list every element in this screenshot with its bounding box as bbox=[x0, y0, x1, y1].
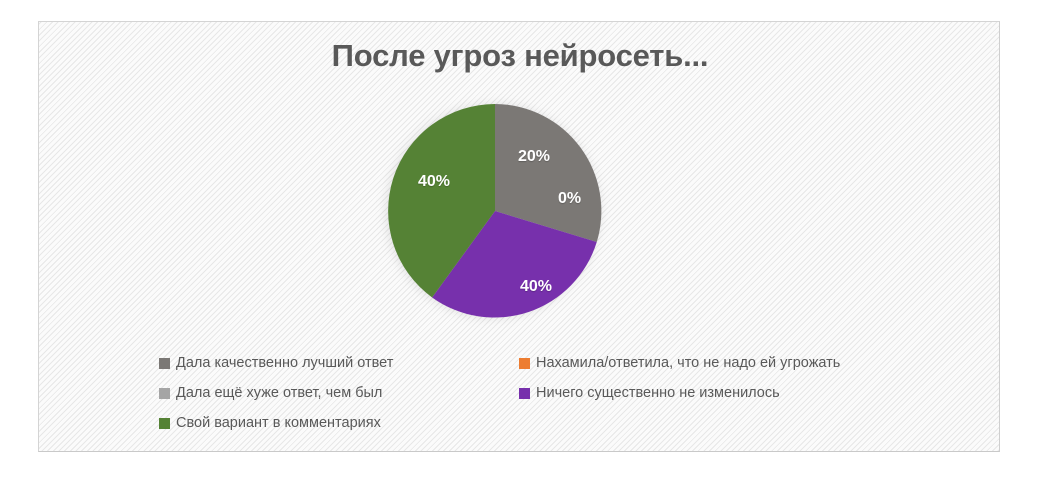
legend-item-own-option[interactable]: Свой вариант в комментариях bbox=[159, 408, 381, 438]
legend-swatch-icon bbox=[159, 418, 170, 429]
legend-row: Дала качественно лучший ответ Нахамила/о… bbox=[159, 348, 919, 378]
pie-label-gray: 20% bbox=[518, 148, 550, 166]
pie-label-purple: 40% bbox=[520, 278, 552, 296]
legend-label: Свой вариант в комментариях bbox=[176, 415, 381, 431]
legend-item-better-answer[interactable]: Дала качественно лучший ответ bbox=[159, 348, 393, 378]
legend-label: Нахамила/ответила, что не надо ей угрожа… bbox=[536, 355, 840, 371]
legend-row: Дала ещё хуже ответ, чем был Ничего суще… bbox=[159, 378, 919, 408]
legend-swatch-icon bbox=[519, 358, 530, 369]
legend-item-worse-answer[interactable]: Дала ещё хуже ответ, чем был bbox=[159, 378, 382, 408]
legend-swatch-icon bbox=[159, 388, 170, 399]
pie-label-orange: 0% bbox=[558, 190, 581, 208]
legend-label: Дала качественно лучший ответ bbox=[176, 355, 393, 371]
legend-item-no-change[interactable]: Ничего существенно не изменилось bbox=[519, 378, 780, 408]
pie-chart[interactable]: 20% 0% 40% 40% bbox=[380, 96, 610, 326]
legend-label: Дала ещё хуже ответ, чем был bbox=[176, 385, 382, 401]
legend-label: Ничего существенно не изменилось bbox=[536, 385, 780, 401]
chart-title: После угроз нейросеть... bbox=[39, 38, 1000, 74]
legend-row: Свой вариант в комментариях bbox=[159, 408, 919, 438]
chart-legend: Дала качественно лучший ответ Нахамила/о… bbox=[159, 348, 919, 438]
pie-slices bbox=[380, 96, 610, 326]
legend-swatch-icon bbox=[159, 358, 170, 369]
pie-label-green: 40% bbox=[418, 173, 450, 191]
legend-swatch-icon bbox=[519, 388, 530, 399]
chart-container[interactable]: После угроз нейросеть... 20% 0% 40% 40% bbox=[38, 21, 1000, 452]
legend-item-rude-answer[interactable]: Нахамила/ответила, что не надо ей угрожа… bbox=[519, 348, 840, 378]
screenshot-root: После угроз нейросеть... 20% 0% 40% 40% bbox=[0, 0, 1052, 487]
